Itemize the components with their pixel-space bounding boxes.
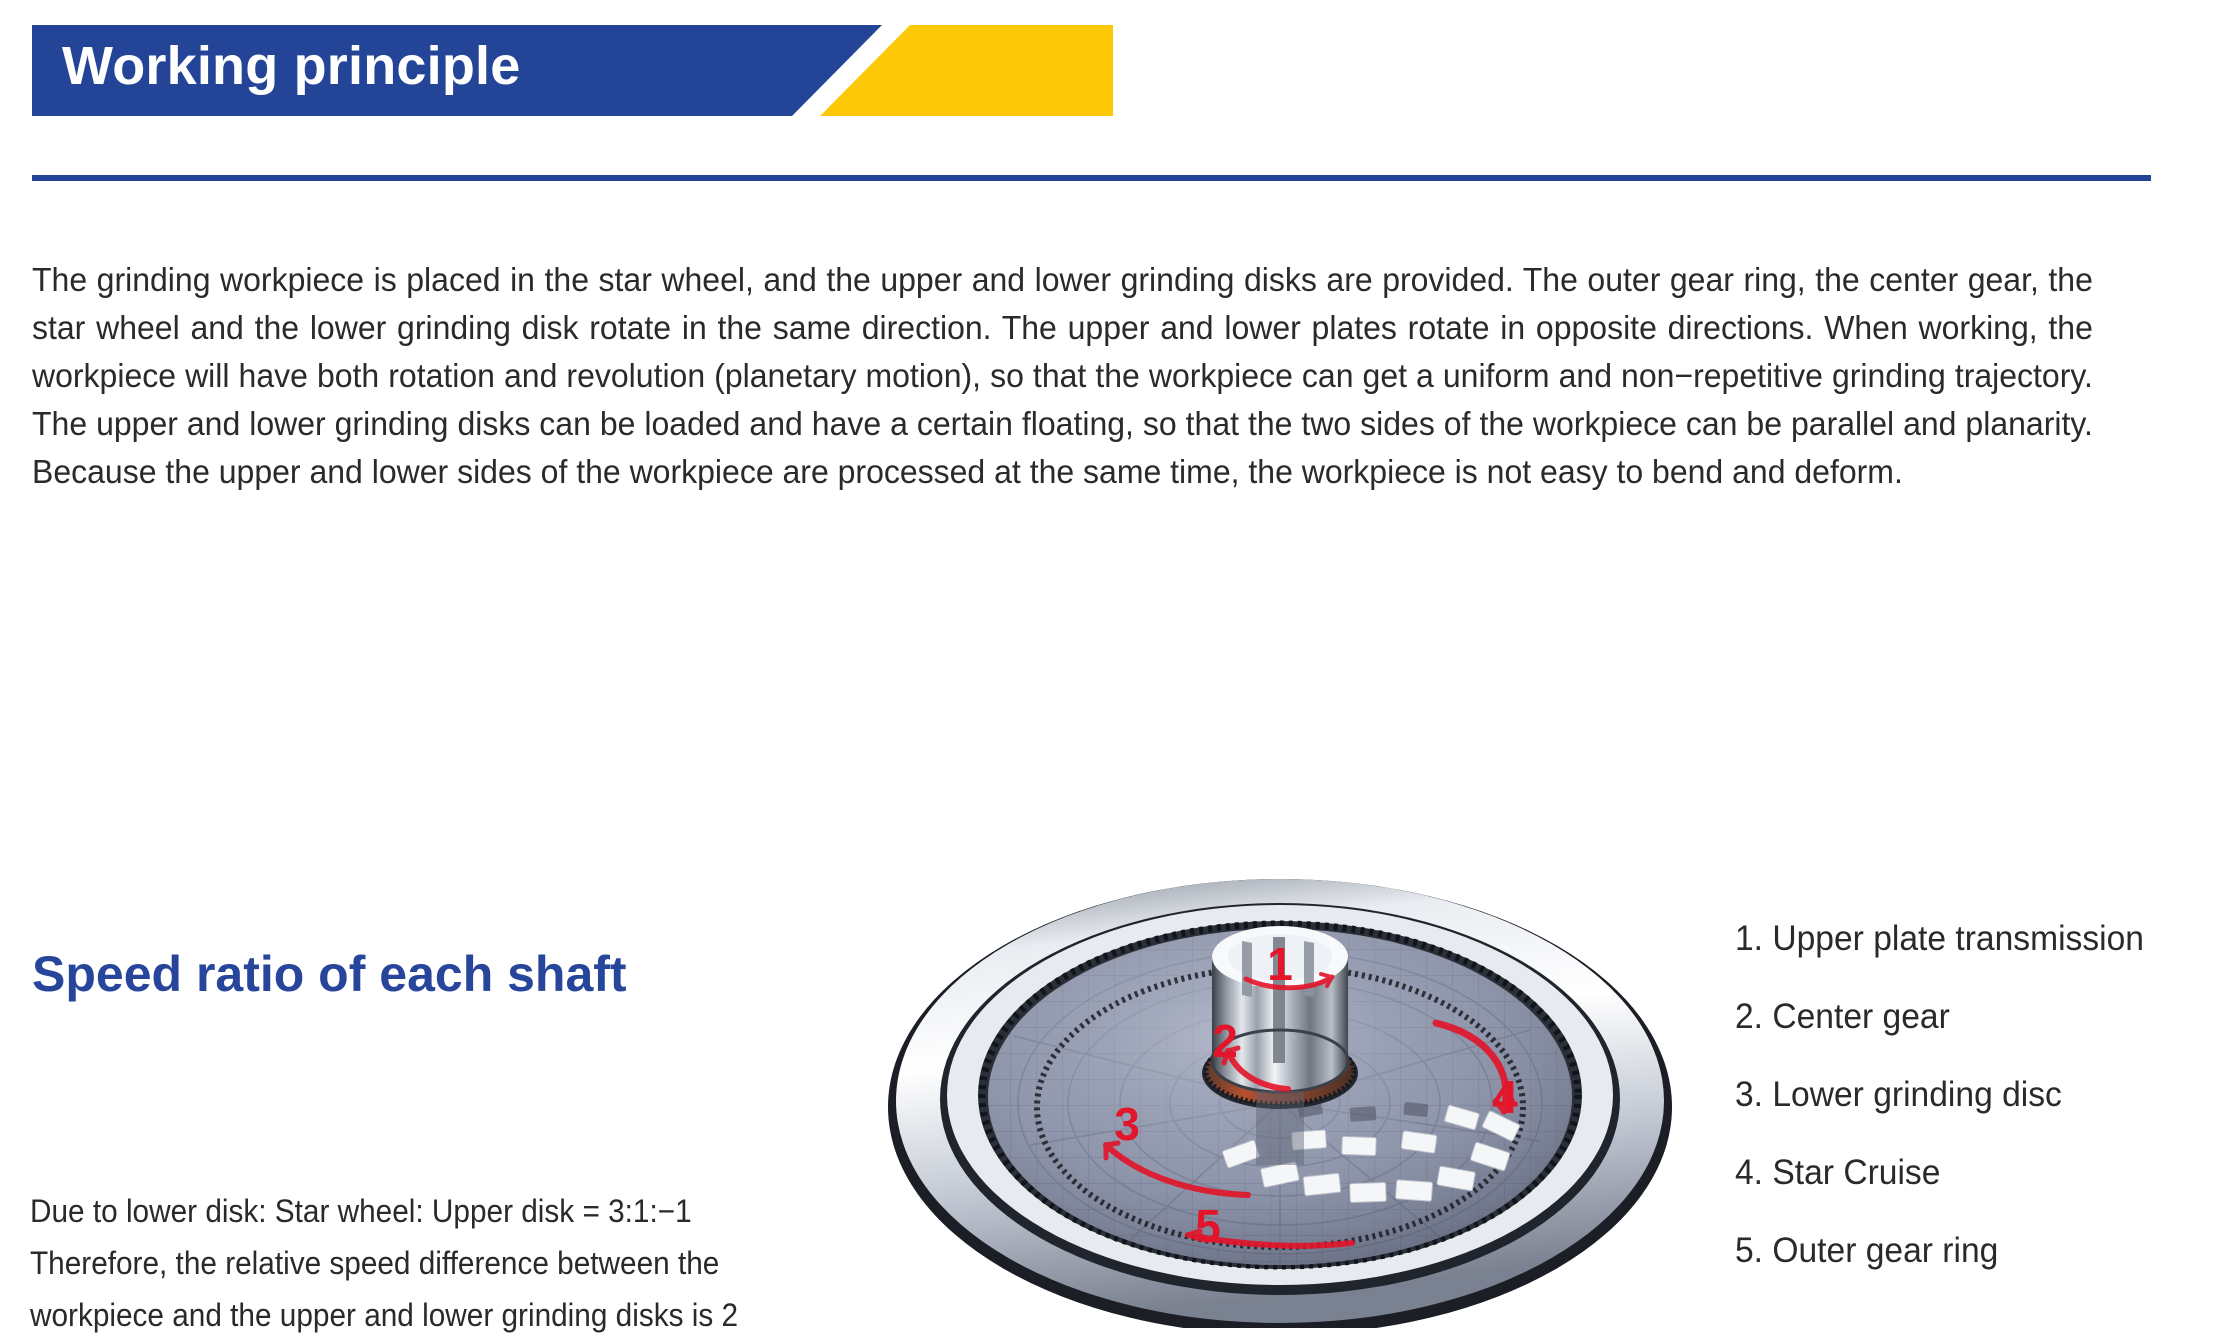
callout-number-5: 5 bbox=[1195, 1200, 1221, 1252]
callout-number-1: 1 bbox=[1267, 938, 1293, 990]
legend-item-5: 5. Outer gear ring bbox=[1735, 1212, 2186, 1290]
speed-ratio-line-3: workpiece and the upper and lower grindi… bbox=[30, 1289, 960, 1341]
legend-item-4: 4. Star Cruise bbox=[1735, 1134, 2186, 1212]
lapping-machine-photo: 1 2 3 4 5 bbox=[880, 845, 1680, 1328]
callout-number-4: 4 bbox=[1492, 1071, 1518, 1123]
page-title: Working principle bbox=[62, 30, 962, 102]
legend-item-1: 1. Upper plate transmission bbox=[1735, 900, 2186, 978]
speed-ratio-heading: Speed ratio of each shaft bbox=[32, 945, 627, 1003]
header-divider bbox=[32, 175, 2151, 181]
legend-item-3: 3. Lower grinding disc bbox=[1735, 1056, 2186, 1134]
callout-number-2: 2 bbox=[1212, 1015, 1238, 1067]
legend-item-2: 2. Center gear bbox=[1735, 978, 2186, 1056]
hub-reflection bbox=[1256, 1091, 1304, 1165]
speed-ratio-line-2: Therefore, the relative speed difference… bbox=[30, 1237, 960, 1289]
speed-ratio-line-1: Due to lower disk: Star wheel: Upper dis… bbox=[30, 1185, 960, 1237]
legend-list: 1. Upper plate transmission 2. Center ge… bbox=[1735, 900, 2205, 1290]
speed-ratio-text: Due to lower disk: Star wheel: Upper dis… bbox=[30, 1185, 960, 1341]
hub-slot-left bbox=[1242, 941, 1252, 997]
header-banner: Working principle bbox=[0, 0, 2221, 130]
callout-number-3: 3 bbox=[1114, 1098, 1140, 1150]
intro-paragraph: The grinding workpiece is placed in the … bbox=[32, 257, 2093, 497]
